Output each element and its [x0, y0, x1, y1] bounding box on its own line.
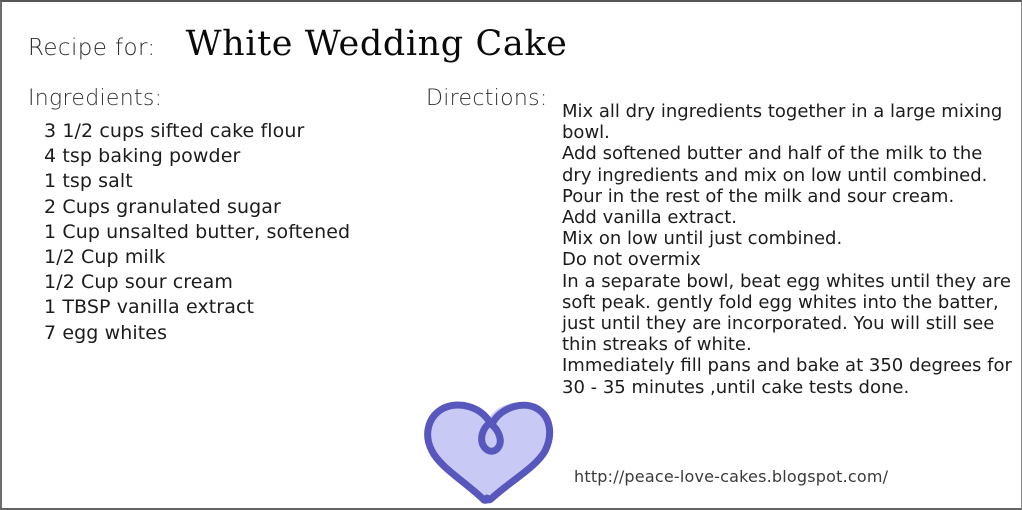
ingredient-item: 1/2 Cup milk: [44, 245, 434, 270]
ingredient-item: 1 TBSP vanilla extract: [44, 295, 434, 320]
direction-step: Mix all dry ingredients together in a la…: [562, 101, 1014, 143]
ingredient-item: 1 Cup unsalted butter, softened: [44, 220, 434, 245]
directions-list: Mix all dry ingredients together in a la…: [562, 101, 1014, 398]
ingredient-item: 2 Cups granulated sugar: [44, 195, 434, 220]
ingredient-item: 1/2 Cup sour cream: [44, 270, 434, 295]
recipe-title: White Wedding Cake: [186, 24, 568, 64]
direction-step: Mix on low until just combined.: [562, 228, 1014, 249]
directions-heading: Directions:: [426, 86, 548, 111]
ingredient-item: 7 egg whites: [44, 321, 434, 346]
direction-step: Pour in the rest of the milk and sour cr…: [562, 186, 1014, 207]
recipe-header: Recipe for: White Wedding Cake: [28, 24, 567, 64]
ingredient-item: 1 tsp salt: [44, 169, 434, 194]
direction-step: Do not overmix: [562, 249, 1014, 270]
direction-step: Add softened butter and half of the milk…: [562, 143, 1014, 185]
blog-url[interactable]: http://peace-love-cakes.blogspot.com/: [574, 467, 888, 486]
direction-step: Immediately fill pans and bake at 350 de…: [562, 355, 1014, 397]
direction-step: In a separate bowl, beat egg whites unti…: [562, 271, 1014, 356]
direction-step: Add vanilla extract.: [562, 207, 1014, 228]
ingredients-list: 3 1/2 cups sifted cake flour 4 tsp bakin…: [44, 119, 434, 346]
hand-drawn-heart-icon: [420, 398, 556, 504]
ingredient-item: 3 1/2 cups sifted cake flour: [44, 119, 434, 144]
ingredients-heading: Ingredients:: [28, 86, 162, 111]
ingredient-item: 4 tsp baking powder: [44, 144, 434, 169]
recipe-card: Recipe for: White Wedding Cake Ingredien…: [0, 0, 1022, 510]
recipe-for-label: Recipe for:: [28, 35, 156, 61]
